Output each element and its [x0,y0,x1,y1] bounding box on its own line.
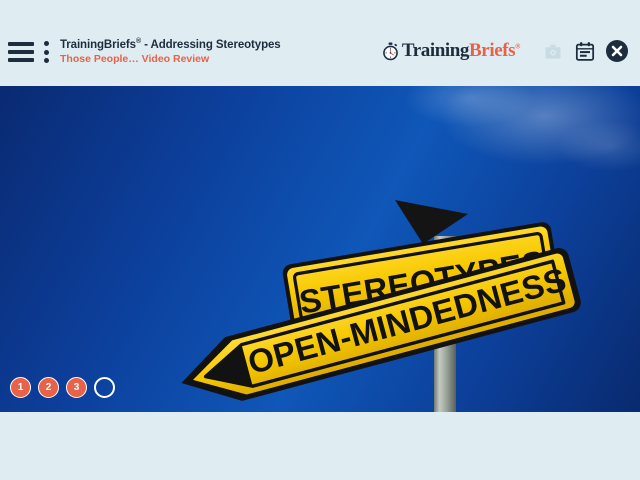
hamburger-bar [8,50,34,54]
slide-stage: STEREOTYPES OPEN-MINDEDNESS 1 2 3 [0,86,640,412]
trainingbriefs-logo: TrainingBriefs® [381,40,520,62]
dot [44,58,49,63]
header-left-group: TrainingBriefs® - Addressing Stereotypes… [8,0,281,86]
pagination-dot-3[interactable]: 3 [66,377,87,398]
course-player-window: TrainingBriefs® - Addressing Stereotypes… [0,0,640,480]
brand-word-training: Training [402,40,469,61]
attachments-icon [540,38,566,64]
header-right-group: TrainingBriefs® [381,0,630,86]
close-glyph [605,39,629,63]
close-icon[interactable] [604,38,630,64]
brand-word-briefs: Briefs [469,40,515,61]
pagination-dot-4[interactable] [94,377,115,398]
notes-glyph [575,41,595,62]
pagination-dot-2[interactable]: 2 [38,377,59,398]
dot [44,41,49,46]
stopwatch-icon [381,42,400,61]
course-title-base: TrainingBriefs [60,39,136,51]
header-titles: TrainingBriefs® - Addressing Stereotypes… [60,38,281,66]
brand-wordmark: TrainingBriefs® [402,40,520,62]
course-title-rest: - Addressing Stereotypes [141,39,281,51]
hamburger-bar [8,42,34,46]
course-title: TrainingBriefs® - Addressing Stereotypes [60,38,281,51]
pagination-dot-1[interactable]: 1 [10,377,31,398]
attachments-glyph [543,41,563,61]
brand-registered-mark: ® [515,43,520,51]
dot [44,50,49,55]
street-signs-illustration: STEREOTYPES OPEN-MINDEDNESS [0,86,640,412]
hamburger-menu-icon[interactable] [8,42,34,62]
player-footer [0,412,640,480]
player-header: TrainingBriefs® - Addressing Stereotypes… [0,0,640,86]
vertical-dots-icon[interactable] [43,41,49,63]
notes-icon[interactable] [572,38,598,64]
hamburger-bar [8,58,34,62]
slide-pagination: 1 2 3 [10,377,115,398]
lesson-subtitle: Those People… Video Review [60,54,281,65]
